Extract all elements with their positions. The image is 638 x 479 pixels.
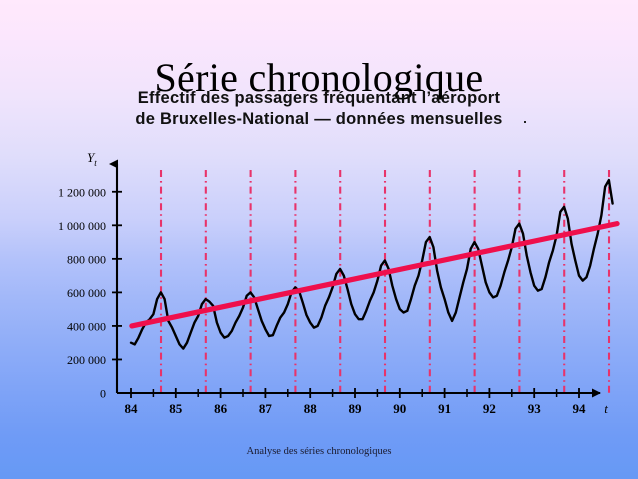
slide: Série chronologique Effectif des passage… (0, 0, 638, 479)
x-tick-label-92: 92 (483, 401, 496, 416)
x-tick-label-86: 86 (214, 401, 228, 416)
chart-canvas: 0200 000400 000600 000800 0001 000 0001 … (0, 130, 638, 430)
x-tick-label-94: 94 (573, 401, 587, 416)
chart-subtitle-line2: de Bruxelles-National — données mensuell… (0, 109, 638, 130)
y-tick-label-200000: 200 000 (67, 353, 106, 367)
x-tick-label-93: 93 (528, 401, 542, 416)
slide-footer: Analyse des séries chronologiques (0, 446, 638, 457)
x-tick-label-87: 87 (259, 401, 273, 416)
y-tick-label-400000: 400 000 (67, 319, 106, 333)
x-tick-label-89: 89 (349, 401, 363, 416)
x-axis: 8485868788899091929394 (117, 388, 600, 416)
y-axis: 0200 000400 000600 000800 0001 000 0001 … (58, 164, 122, 401)
chart-subtitle-line1: Effectif des passagers fréquentant l’aér… (138, 89, 500, 107)
seasonal-marker-group (161, 170, 609, 394)
y-tick-label-1200000: 1 200 000 (58, 185, 106, 199)
x-tick-label-85: 85 (169, 401, 183, 416)
y-tick-label-1000000: 1 000 000 (58, 219, 106, 233)
x-axis-title: t (604, 401, 608, 416)
x-tick-label-91: 91 (438, 401, 451, 416)
series-line-passengers (131, 180, 613, 349)
y-tick-label-800000: 800 000 (67, 252, 106, 266)
chart-subtitle: Effectif des passagers fréquentant l’aér… (0, 88, 638, 129)
y-axis-title: Yt (87, 150, 97, 168)
x-tick-label-88: 88 (304, 401, 318, 416)
stray-dot-artifact (524, 121, 526, 123)
time-series-chart: 0200 000400 000600 000800 0001 000 0001 … (0, 130, 638, 430)
x-tick-label-90: 90 (393, 401, 406, 416)
y-tick-label-600000: 600 000 (67, 286, 106, 300)
x-tick-label-84: 84 (125, 401, 139, 416)
y-tick-label-0: 0 (100, 387, 106, 401)
trend-line-regression (132, 224, 617, 326)
